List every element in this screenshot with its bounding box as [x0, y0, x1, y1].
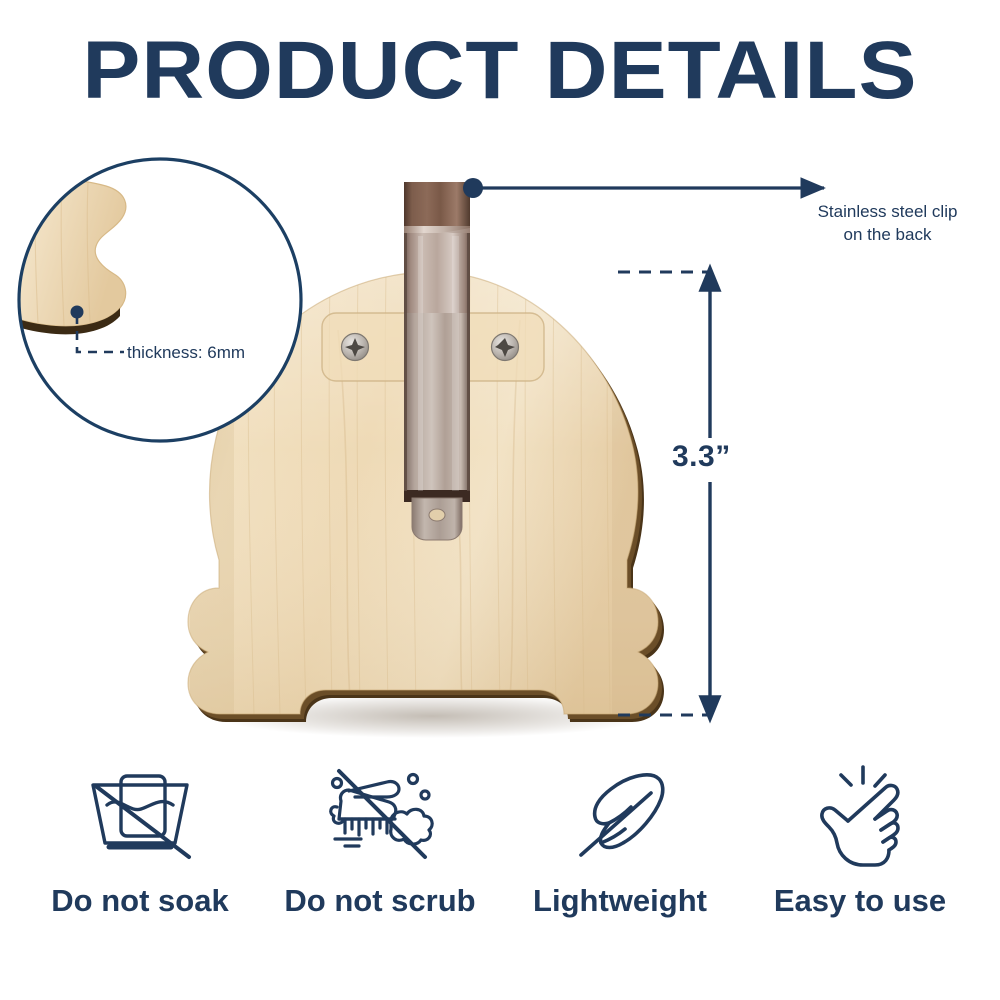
product-details-page: PRODUCT DETAILS	[0, 0, 1000, 1000]
feature-label-easy-to-use: Easy to use	[774, 883, 946, 919]
clip-annotation-label: Stainless steel clip on the back	[780, 200, 995, 246]
plaque-wood-face	[188, 260, 660, 730]
feature-lightweight: Lightweight	[500, 755, 740, 919]
screw-right	[492, 334, 519, 361]
no-scrub-icon	[315, 755, 445, 875]
thickness-annotation-label: thickness: 6mm	[127, 342, 245, 363]
feature-row: Do not soak	[20, 755, 980, 955]
screw-left	[342, 334, 369, 361]
plaque-shadow	[214, 694, 650, 738]
dimension-extension-lines	[618, 272, 708, 715]
no-soak-icon	[75, 755, 205, 875]
dimension-value-label: 3.3”	[672, 440, 731, 474]
feature-label-do-not-scrub: Do not scrub	[284, 883, 475, 919]
dimension-arrow	[701, 268, 719, 719]
feature-easy-to-use: Easy to use	[740, 755, 980, 919]
page-title: PRODUCT DETAILS	[0, 26, 1000, 116]
tap-hand-icon	[795, 755, 925, 875]
feature-do-not-soak: Do not soak	[20, 755, 260, 919]
clip-leader-dot	[463, 178, 483, 198]
feather-icon	[555, 755, 685, 875]
feature-label-lightweight: Lightweight	[533, 883, 707, 919]
thickness-leader-line	[77, 315, 124, 352]
magnifier-ring	[19, 159, 301, 441]
stainless-steel-clip	[404, 182, 470, 540]
feature-do-not-scrub: Do not scrub	[260, 755, 500, 919]
clip-annotation-line2: on the back	[780, 223, 995, 246]
mounting-plate	[322, 313, 544, 381]
clip-annotation-line1: Stainless steel clip	[780, 200, 995, 223]
plaque-wood-edge	[192, 277, 664, 722]
feature-label-do-not-soak: Do not soak	[51, 883, 228, 919]
magnifier-content	[0, 159, 301, 441]
thickness-leader-dot	[71, 306, 84, 319]
